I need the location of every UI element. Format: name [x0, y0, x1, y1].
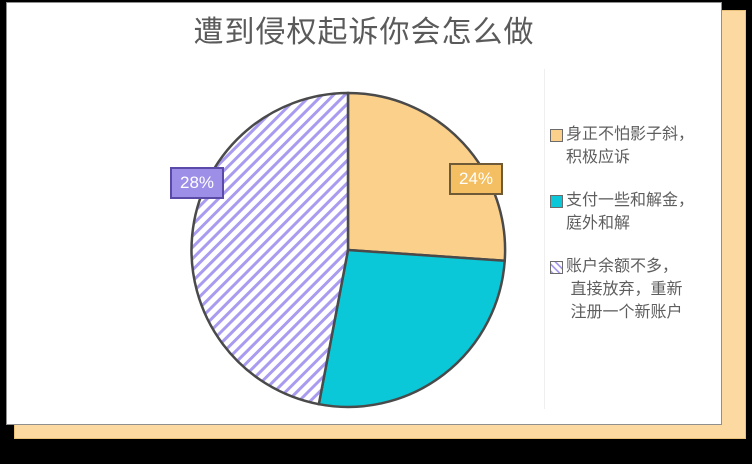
pie-chart-svg [183, 85, 513, 415]
legend-item-label: 账户余额不多， 直接放弃，重新 注册一个新账户 [566, 255, 682, 324]
pie-slice-purple[interactable] [192, 93, 348, 404]
legend-divider [544, 69, 545, 409]
page-title: 遭到侵权起诉你会怎么做 [7, 15, 721, 51]
legend-item-label: 身正不怕影子斜， 积极应诉 [566, 123, 694, 169]
orange-square-icon [550, 129, 563, 142]
legend-item-1[interactable]: 支付一些和解金， 庭外和解 [550, 189, 722, 235]
legend-item-2[interactable]: 账户余额不多， 直接放弃，重新 注册一个新账户 [550, 255, 722, 324]
data-label-purple: 28% [170, 167, 224, 199]
pie-chart-plot-area: 24% 48% 28% [7, 63, 527, 423]
data-label-orange: 24% [449, 163, 503, 195]
screenshot-stage: 遭到侵权起诉你会怎么做 24% 48% 28% [0, 0, 752, 464]
teal-square-icon [550, 195, 563, 208]
legend-item-0[interactable]: 身正不怕影子斜， 积极应诉 [550, 123, 722, 169]
purple-hatched-square-icon [550, 261, 563, 274]
chart-legend: 身正不怕影子斜， 积极应诉 支付一些和解金， 庭外和解 账户余额不多， 直接放弃… [550, 123, 722, 344]
pie-slice-teal[interactable] [319, 250, 505, 407]
chart-card: 遭到侵权起诉你会怎么做 24% 48% 28% [6, 2, 722, 425]
legend-item-label: 支付一些和解金， 庭外和解 [566, 189, 694, 235]
